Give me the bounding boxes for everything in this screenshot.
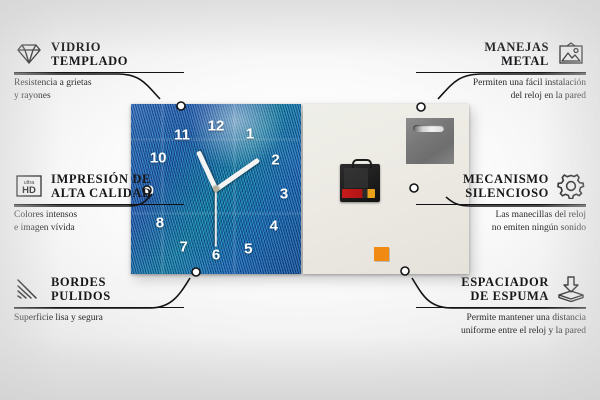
callout-rule: [14, 204, 184, 205]
callout-desc-1: Colores intensos: [14, 209, 184, 221]
clock-numeral-2: 2: [271, 153, 279, 168]
clock-numeral-3: 3: [280, 187, 288, 202]
clock-mechanism: [340, 164, 380, 202]
clock-center-cap: [213, 186, 219, 192]
callout-desc-1: Superficie lisa y segura: [14, 312, 184, 324]
callout-title: MANEJAS: [484, 40, 549, 54]
battery: [342, 189, 375, 198]
callout-desc-1: Permiten una fácil instalación: [416, 77, 586, 89]
clock-numeral-1: 1: [246, 126, 254, 141]
callout-title: ESPACIADOR: [461, 275, 549, 289]
callout-title-2: METAL: [484, 54, 549, 68]
callout-title: MECANISMO: [463, 172, 549, 186]
ultra-hd-icon: ultra HD: [14, 174, 44, 198]
foam-spacer: [374, 247, 389, 261]
metal-hanger-plate: [406, 118, 454, 164]
arrow-down-pad-icon: [556, 276, 586, 302]
clock-numeral-5: 5: [244, 241, 252, 256]
callout-title-2: PULIDOS: [51, 289, 111, 303]
diagonal-lines-icon: [14, 277, 44, 301]
callout-rule: [416, 72, 586, 73]
callout-title-2: DE ESPUMA: [461, 289, 549, 303]
hanger-slot-icon: [413, 125, 445, 132]
callout-title: IMPRESIÓN DE: [51, 172, 152, 186]
callout-manejas-metal: MANEJAS METAL Permiten una fácil instala…: [416, 40, 586, 102]
clock-numeral-4: 4: [270, 219, 278, 234]
callout-desc-2: no emiten ningún sonido: [416, 222, 586, 234]
clock-numeral-6: 6: [212, 248, 220, 263]
callout-vidrio-templado: VIDRIO TEMPLADO Resistencia a grietas y …: [14, 40, 184, 102]
callout-desc-2: y rayones: [14, 90, 184, 102]
callout-mecanismo-silencioso: MECANISMO SILENCIOSO Las manecillas del …: [416, 172, 586, 234]
callout-desc-1: Resistencia a grietas: [14, 77, 184, 89]
gear-icon: [556, 173, 586, 199]
picture-frame-hanger-icon: [556, 42, 586, 66]
callout-desc-1: Las manecillas del reloj: [416, 209, 586, 221]
callout-impresion-alta-calidad: ultra HD IMPRESIÓN DE ALTA CALIDAD Color…: [14, 172, 184, 234]
callout-espaciador-de-espuma: ESPACIADOR DE ESPUMA Permite mantener un…: [416, 275, 586, 337]
callout-title: VIDRIO: [51, 40, 128, 54]
clock-numeral-7: 7: [180, 239, 188, 254]
ultra-hd-icon-large-text: HD: [22, 185, 36, 196]
clock-second-hand: [215, 189, 217, 247]
callout-desc-2: e imagen vívida: [14, 222, 184, 234]
callout-rule: [14, 307, 184, 308]
callout-desc-2: uniforme entre el reloj y la pared: [416, 325, 586, 337]
callout-desc-2: del reloj en la pared: [416, 90, 586, 102]
callout-bordes-pulidos: BORDES PULIDOS Superficie lisa y segura: [14, 275, 184, 325]
callout-rule: [14, 72, 184, 73]
callout-rule: [416, 204, 586, 205]
clock-numeral-10: 10: [150, 151, 167, 166]
callout-title-2: ALTA CALIDAD: [51, 186, 152, 200]
callout-title-2: TEMPLADO: [51, 54, 128, 68]
callout-title: BORDES: [51, 275, 111, 289]
callout-title-2: SILENCIOSO: [463, 186, 549, 200]
mechanism-knob: [352, 159, 372, 168]
clock-numeral-11: 11: [174, 127, 190, 142]
infographic-canvas: 12 1 2 3 4 5 6 7 8 9 10 11: [0, 0, 600, 400]
mechanism-body: [344, 168, 369, 188]
callout-desc-1: Permite mantener una distancia: [416, 312, 586, 324]
callout-rule: [416, 307, 586, 308]
diamond-icon: [14, 42, 44, 66]
clock-numeral-12: 12: [208, 119, 225, 134]
